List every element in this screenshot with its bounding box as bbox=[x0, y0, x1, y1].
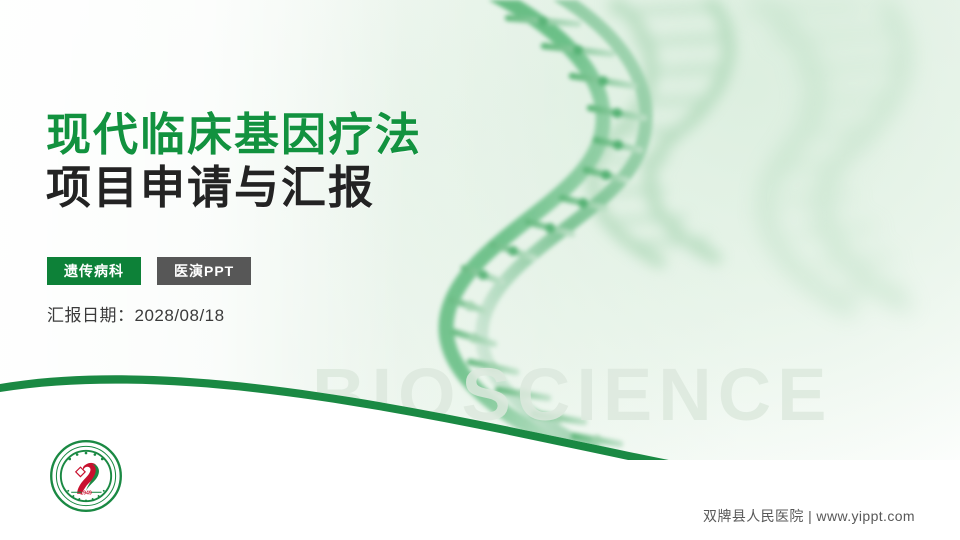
title-line-secondary: 项目申请与汇报 bbox=[46, 161, 422, 214]
tag-department[interactable]: 遗传病科 bbox=[47, 257, 141, 285]
page-title: 现代临床基因疗法 项目申请与汇报 bbox=[46, 108, 422, 214]
report-date: 汇报日期：2028/08/18 bbox=[47, 301, 225, 326]
title-line-primary: 现代临床基因疗法 bbox=[46, 108, 422, 161]
footer-band bbox=[0, 460, 960, 540]
presentation-slide: BIOSCIENCE 1949 现代临床基因疗法 bbox=[0, 0, 960, 540]
tag-row: 遗传病科 医演PPT bbox=[47, 257, 251, 285]
footer-credit: 双牌县人民医院 | www.yippt.com bbox=[703, 506, 915, 526]
hospital-seal-logo: 1949 bbox=[49, 439, 123, 513]
tag-template[interactable]: 医演PPT bbox=[157, 257, 251, 285]
logo-year: 1949 bbox=[80, 491, 92, 497]
